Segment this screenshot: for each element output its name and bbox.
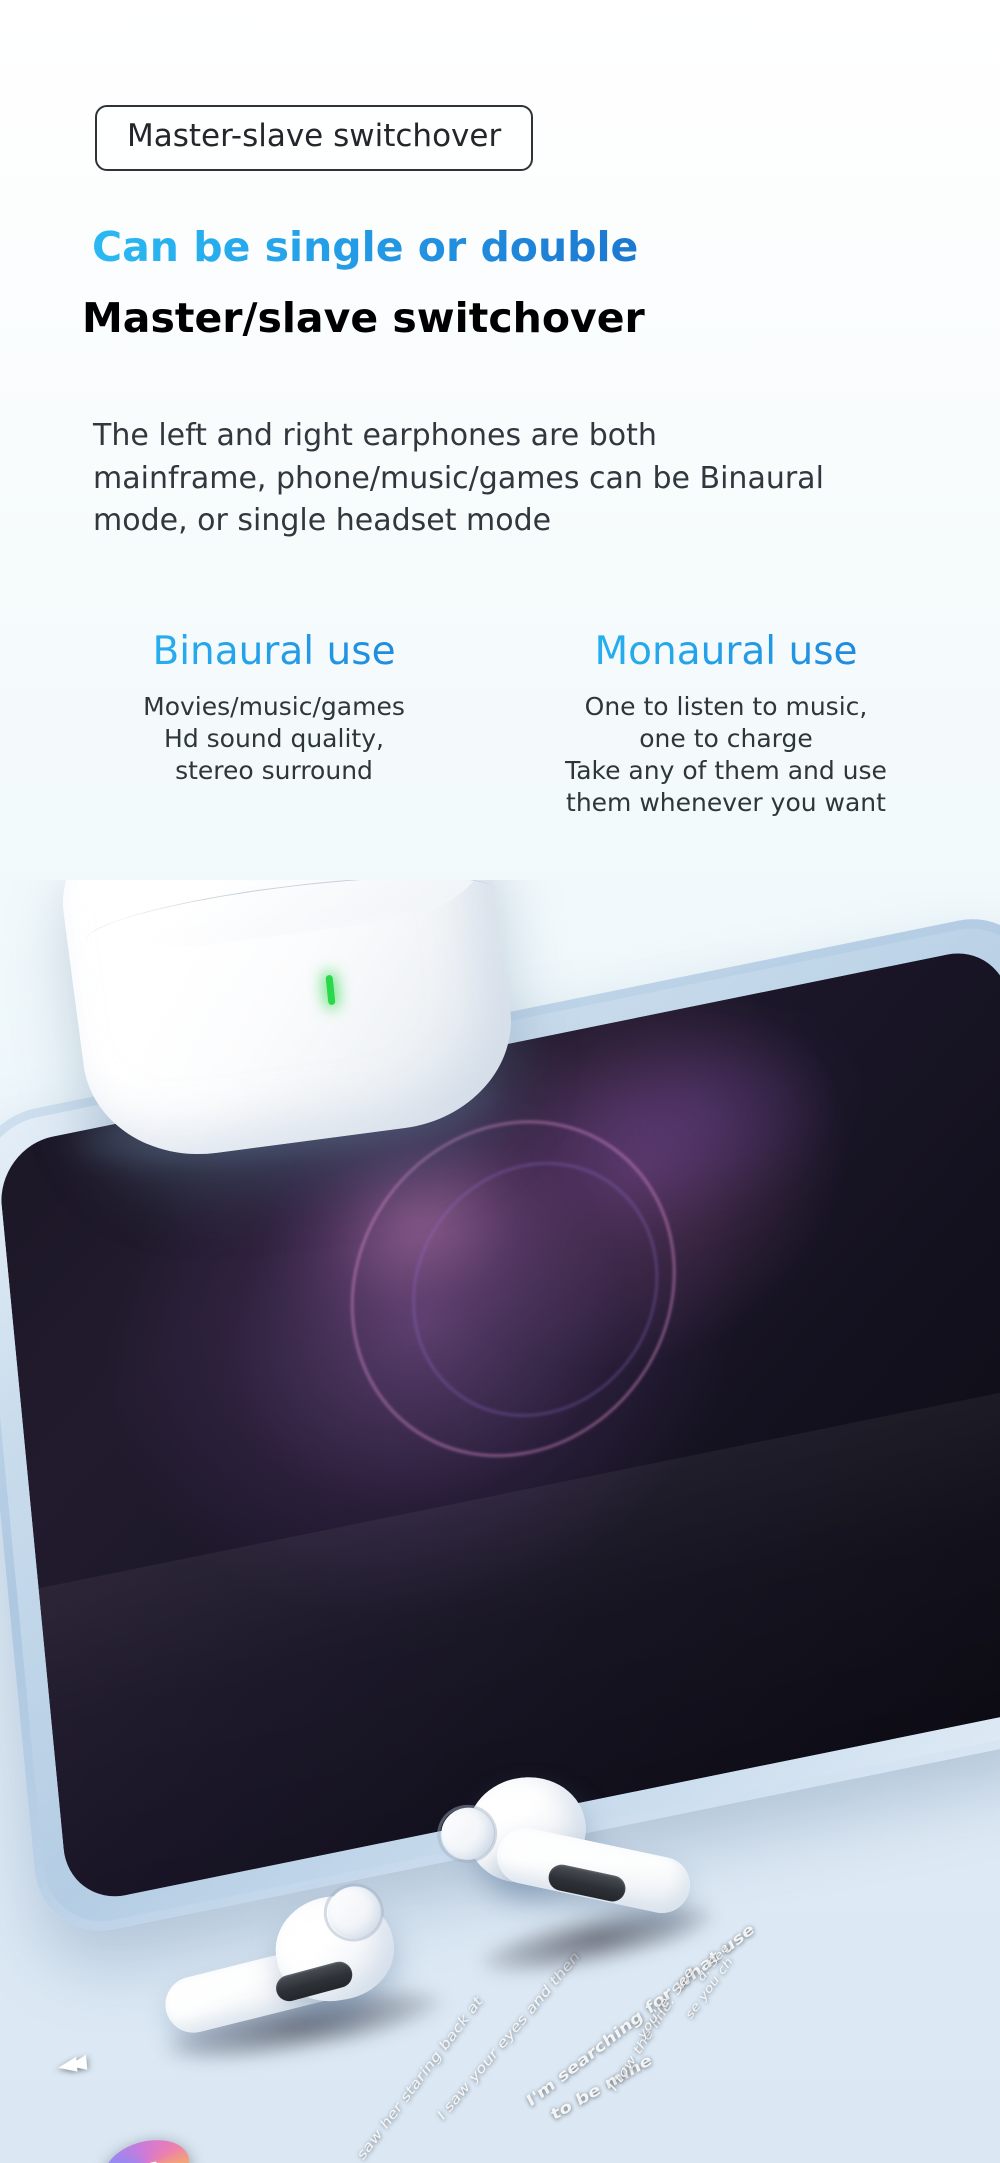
feature-column-binaural: Binaural use Movies/music/games Hd sound… xyxy=(60,630,500,819)
feature-body-binaural: Movies/music/games Hd sound quality, ste… xyxy=(60,691,488,787)
product-marketing-page: Master-slave switchover Can be single or… xyxy=(0,0,1000,2163)
page-body-text: The left and right earphones are both ma… xyxy=(93,415,833,543)
charging-case xyxy=(60,880,580,1250)
feature-column-monaural: Monaural use One to listen to music, one… xyxy=(500,630,940,819)
badge-master-slave-switchover: Master-slave switchover xyxy=(95,105,533,171)
badge-label: Master-slave switchover xyxy=(127,121,501,152)
page-subheading: Master/slave switchover xyxy=(82,296,645,342)
page-headline: Can be single or double xyxy=(92,225,638,271)
feature-body-monaural: One to listen to music, one to charge Ta… xyxy=(512,691,940,819)
feature-title-binaural: Binaural use xyxy=(60,630,488,675)
feature-title-monaural: Monaural use xyxy=(512,630,940,675)
feature-columns: Binaural use Movies/music/games Hd sound… xyxy=(60,630,940,819)
product-photo-scene: saw her staring back at I saw your eyes … xyxy=(0,880,1000,2163)
